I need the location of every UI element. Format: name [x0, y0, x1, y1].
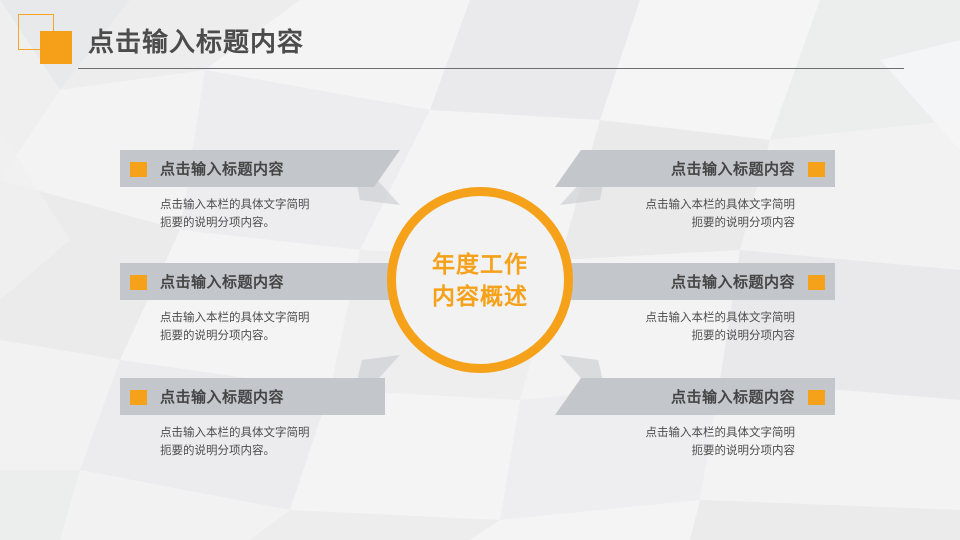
bullet-square-icon: [808, 390, 825, 405]
desc-line-1: 点击输入本栏的具体文字简明: [160, 309, 310, 327]
list-item-right-2[interactable]: 点击输入标题内容 点击输入本栏的具体文字简明 扼要的说明分项内容: [555, 263, 835, 353]
slide-canvas: 点击输入标题内容 点击输入标题内容 点击输入本栏的具体文字简明 扼要的说明分项内…: [0, 0, 960, 540]
list-item-right-3[interactable]: 点击输入标题内容 点击输入本栏的具体文字简明 扼要的说明分项内容: [555, 378, 835, 468]
desc-line-2: 扼要的说明分项内容。: [160, 327, 310, 345]
list-item-description: 点击输入本栏的具体文字简明 扼要的说明分项内容: [646, 424, 796, 460]
bullet-square-icon: [130, 162, 147, 177]
list-item-description: 点击输入本栏的具体文字简明 扼要的说明分项内容。: [160, 424, 310, 460]
list-item-description: 点击输入本栏的具体文字简明 扼要的说明分项内容: [646, 196, 796, 232]
list-item-title: 点击输入标题内容: [160, 158, 284, 179]
list-item-title: 点击输入标题内容: [671, 271, 795, 292]
square-solid-icon: [40, 31, 72, 64]
desc-line-2: 扼要的说明分项内容: [646, 442, 796, 460]
list-item-description: 点击输入本栏的具体文字简明 扼要的说明分项内容。: [160, 309, 310, 345]
list-item-left-3[interactable]: 点击输入标题内容 点击输入本栏的具体文字简明 扼要的说明分项内容。: [120, 378, 420, 468]
desc-line-2: 扼要的说明分项内容。: [160, 442, 310, 460]
desc-line-2: 扼要的说明分项内容: [646, 214, 796, 232]
bullet-square-icon: [130, 390, 147, 405]
list-item-left-1[interactable]: 点击输入标题内容 点击输入本栏的具体文字简明 扼要的说明分项内容。: [120, 150, 420, 240]
bullet-square-icon: [808, 275, 825, 290]
desc-line-1: 点击输入本栏的具体文字简明: [160, 196, 310, 214]
list-item-title: 点击输入标题内容: [160, 386, 284, 407]
desc-line-2: 扼要的说明分项内容: [646, 327, 796, 345]
list-item-description: 点击输入本栏的具体文字简明 扼要的说明分项内容。: [160, 196, 310, 232]
list-item-title: 点击输入标题内容: [671, 158, 795, 179]
center-circle-ring: [387, 187, 573, 373]
logo-mark: [18, 14, 80, 66]
list-item-title: 点击输入标题内容: [671, 386, 795, 407]
list-item-left-2[interactable]: 点击输入标题内容 点击输入本栏的具体文字简明 扼要的说明分项内容。: [120, 263, 420, 353]
list-item-right-1[interactable]: 点击输入标题内容 点击输入本栏的具体文字简明 扼要的说明分项内容: [555, 150, 835, 240]
list-item-title: 点击输入标题内容: [160, 271, 284, 292]
desc-line-1: 点击输入本栏的具体文字简明: [646, 309, 796, 327]
desc-line-1: 点击输入本栏的具体文字简明: [646, 424, 796, 442]
page-title: 点击输入标题内容: [88, 22, 304, 59]
header-divider: [78, 68, 904, 69]
slide-header: 点击输入标题内容: [0, 0, 960, 80]
desc-line-2: 扼要的说明分项内容。: [160, 214, 310, 232]
desc-line-1: 点击输入本栏的具体文字简明: [160, 424, 310, 442]
bullet-square-icon: [808, 162, 825, 177]
list-item-description: 点击输入本栏的具体文字简明 扼要的说明分项内容: [646, 309, 796, 345]
bullet-square-icon: [130, 275, 147, 290]
desc-line-1: 点击输入本栏的具体文字简明: [646, 196, 796, 214]
